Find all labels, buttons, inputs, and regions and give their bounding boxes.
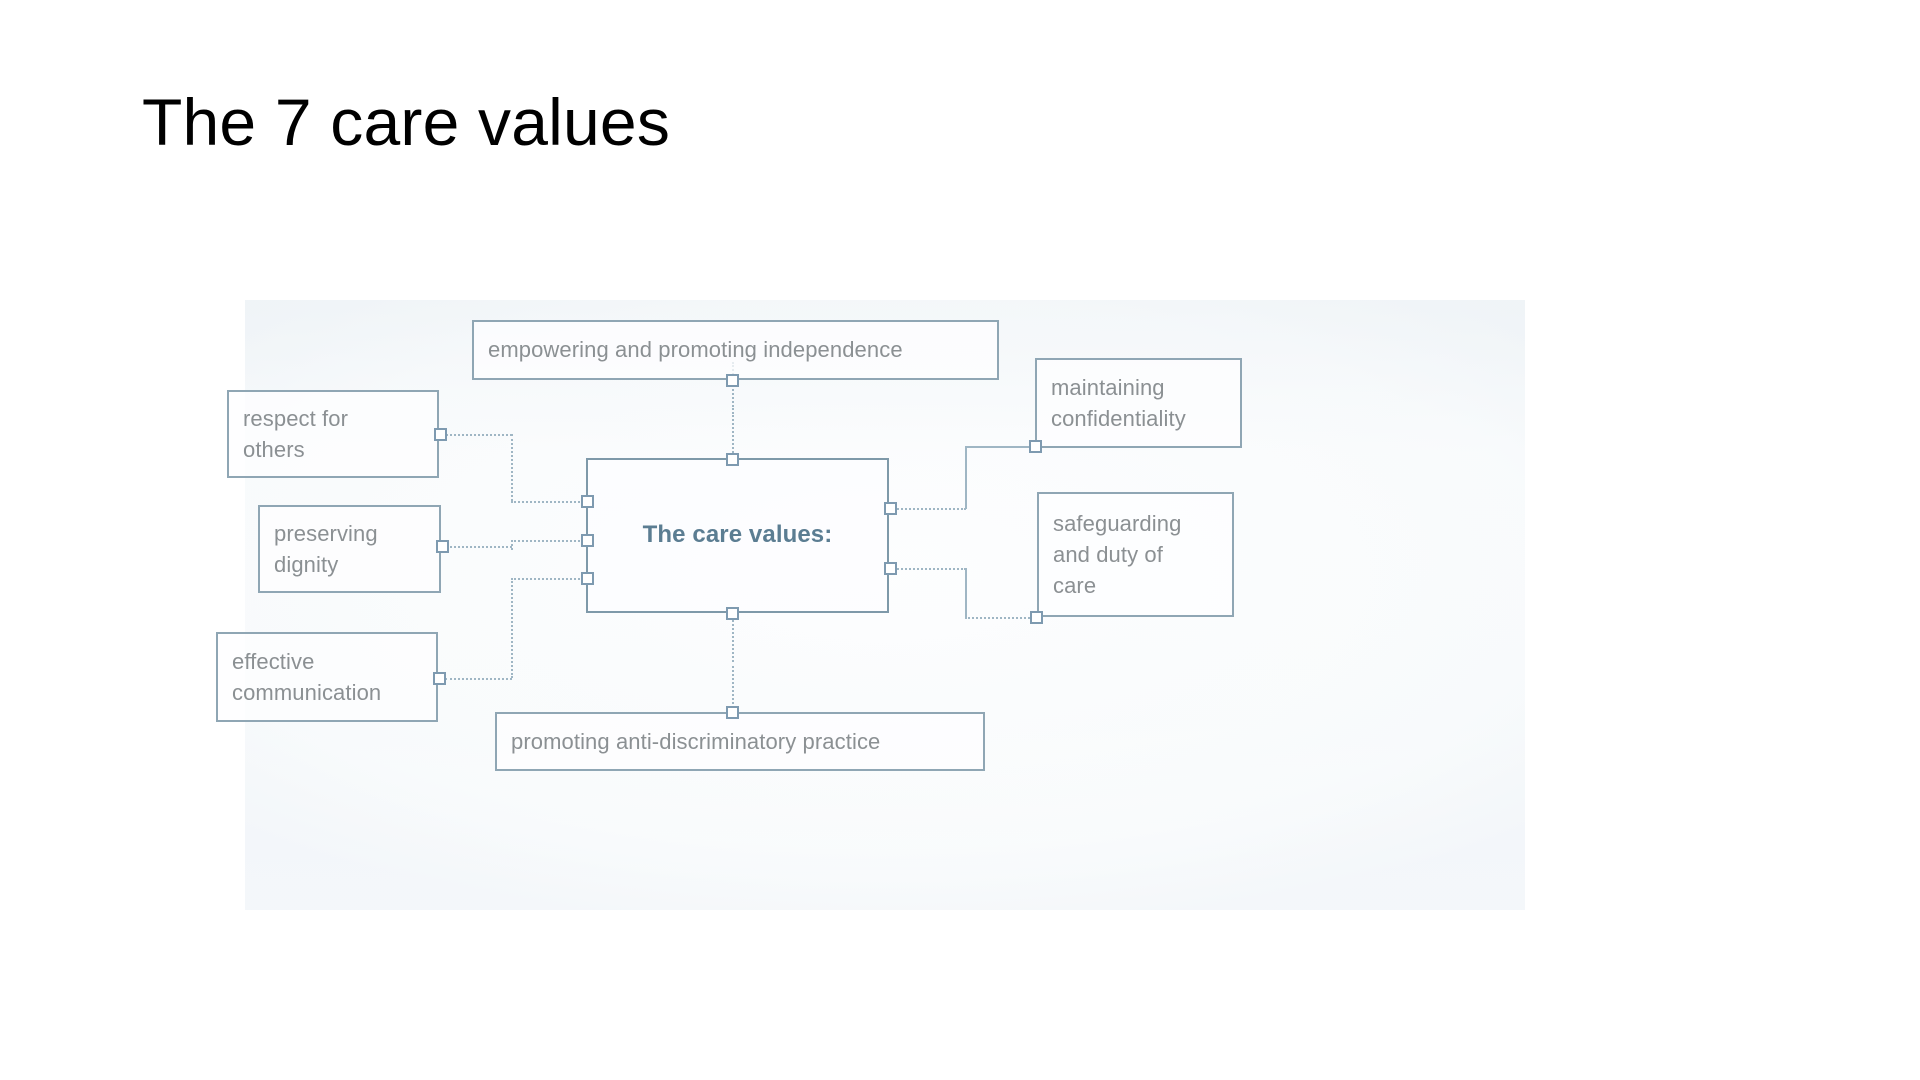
connector-respect-vertical	[511, 434, 513, 501]
connector-communication-horizontal-in	[511, 578, 587, 580]
node-respect-for-others-label: respect forothers	[229, 403, 362, 465]
slide: The 7 care values	[0, 0, 1920, 1080]
handle-empowering-bottom[interactable]	[726, 374, 739, 387]
node-safeguarding-duty-of-care-label: safeguardingand duty ofcare	[1039, 508, 1195, 602]
node-promoting-anti-discriminatory-practice[interactable]: promoting anti-discriminatory practice	[495, 712, 985, 771]
handle-center-left-lower[interactable]	[581, 572, 594, 585]
handle-center-right-lower[interactable]	[884, 562, 897, 575]
node-empowering-label: empowering and promoting independence	[474, 334, 917, 365]
node-effective-communication-label: effectivecommunication	[218, 646, 395, 708]
page-title: The 7 care values	[142, 86, 670, 159]
connector-safeguarding-horizontal-in	[965, 617, 1033, 619]
handle-respect-right[interactable]	[434, 428, 447, 441]
connector-respect-horizontal-out	[442, 434, 512, 436]
care-values-diagram: empowering and promoting independence re…	[245, 300, 1525, 910]
node-effective-communication[interactable]: effectivecommunication	[216, 632, 438, 722]
connector-dignity-horizontal-out	[450, 546, 512, 548]
node-maintaining-confidentiality[interactable]: maintainingconfidentiality	[1035, 358, 1242, 448]
connector-confidentiality-horizontal-in	[965, 446, 1033, 448]
node-center-care-values[interactable]: The care values:	[586, 458, 889, 613]
connector-safeguarding-vertical	[965, 568, 967, 618]
node-center-care-values-label: The care values:	[643, 518, 833, 552]
handle-center-left-upper[interactable]	[581, 495, 594, 508]
handle-communication-right[interactable]	[433, 672, 446, 685]
connector-confidentiality-horizontal-out	[894, 508, 966, 510]
handle-antidiscriminatory-top[interactable]	[726, 706, 739, 719]
connector-respect-horizontal-in	[511, 501, 587, 503]
connector-safeguarding-horizontal-out	[894, 568, 966, 570]
handle-center-left-middle[interactable]	[581, 534, 594, 547]
node-preserving-dignity-label: preservingdignity	[260, 518, 392, 580]
node-respect-for-others[interactable]: respect forothers	[227, 390, 439, 478]
handle-safeguarding-left[interactable]	[1030, 611, 1043, 624]
connector-dignity-horizontal-in	[511, 540, 587, 542]
node-maintaining-confidentiality-label: maintainingconfidentiality	[1037, 372, 1200, 434]
handle-center-bottom[interactable]	[726, 607, 739, 620]
handle-confidentiality-left[interactable]	[1029, 440, 1042, 453]
handle-dignity-right[interactable]	[436, 540, 449, 553]
node-promoting-anti-discriminatory-practice-label: promoting anti-discriminatory practice	[497, 726, 894, 757]
handle-center-top[interactable]	[726, 453, 739, 466]
node-preserving-dignity[interactable]: preservingdignity	[258, 505, 441, 593]
node-empowering[interactable]: empowering and promoting independence	[472, 320, 999, 380]
connector-communication-vertical	[511, 578, 513, 678]
connector-confidentiality-vertical	[965, 446, 967, 509]
connector-communication-horizontal-out	[445, 678, 512, 680]
node-safeguarding-duty-of-care[interactable]: safeguardingand duty ofcare	[1037, 492, 1234, 617]
handle-center-right-upper[interactable]	[884, 502, 897, 515]
